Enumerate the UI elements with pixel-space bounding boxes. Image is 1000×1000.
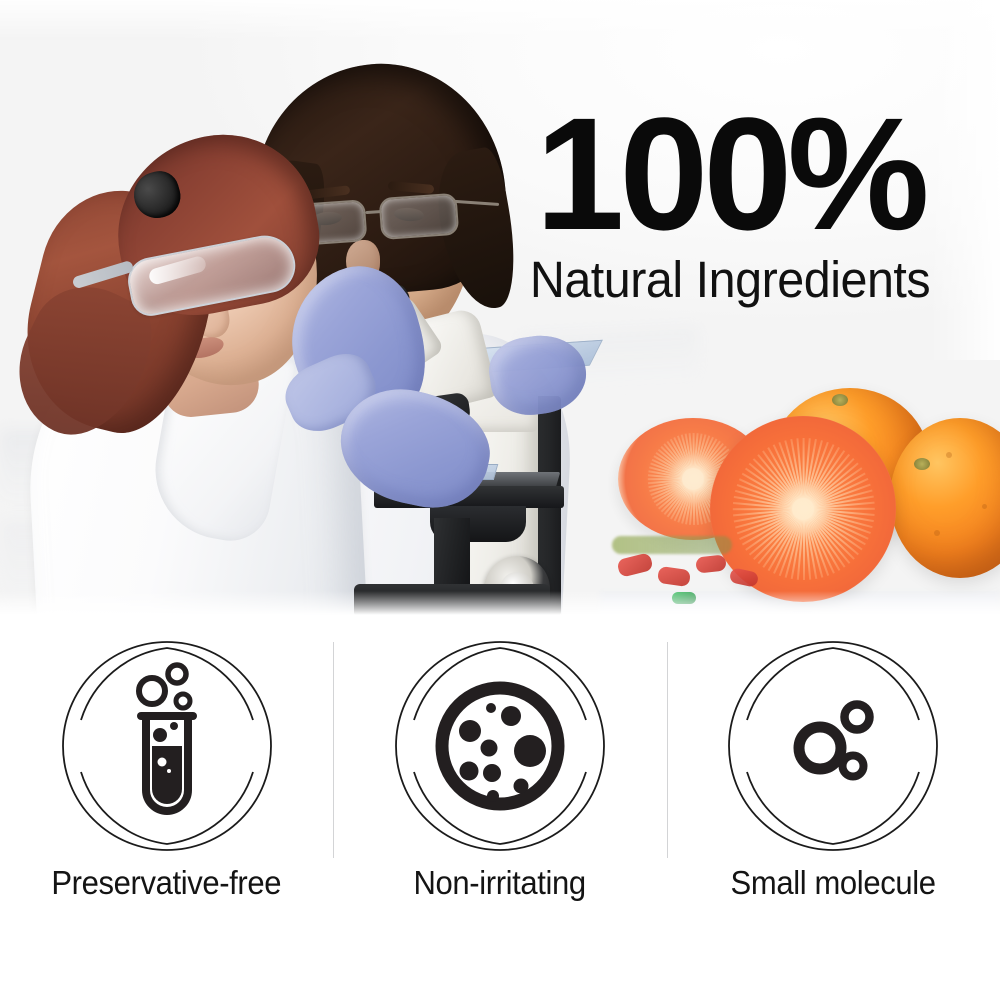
test-tube-bubbles-icon bbox=[59, 638, 275, 854]
headline-percentage: 100% bbox=[505, 100, 955, 247]
red-capsule bbox=[657, 566, 691, 587]
feature-label: Preservative-free bbox=[52, 864, 282, 902]
headline-block: 100% Natural Ingredients bbox=[505, 100, 955, 307]
red-capsule bbox=[695, 554, 727, 573]
orange-stem bbox=[914, 458, 930, 470]
orange-pore bbox=[946, 452, 952, 458]
herb-garnish bbox=[612, 536, 732, 554]
molecules-icon bbox=[725, 638, 941, 854]
red-capsule bbox=[616, 552, 653, 578]
orange-pore bbox=[934, 530, 940, 536]
feature-label: Small molecule bbox=[731, 864, 936, 902]
fruit-arrangement bbox=[600, 370, 1000, 617]
headline-subtitle: Natural Ingredients bbox=[516, 253, 944, 307]
hero-bottom-fade bbox=[0, 591, 1000, 617]
orange-pore bbox=[982, 504, 987, 509]
feature-non-irritating: Non-irritating bbox=[333, 620, 666, 920]
product-infographic: 100% Natural Ingredients bbox=[0, 0, 1000, 1000]
feature-row: Preservative-free bbox=[0, 620, 1000, 920]
orange-stem bbox=[832, 394, 848, 406]
feature-label: Non-irritating bbox=[414, 864, 586, 902]
feature-preservative-free: Preservative-free bbox=[0, 620, 333, 920]
microscope-pillar bbox=[434, 518, 470, 594]
feature-small-molecule: Small molecule bbox=[667, 620, 1000, 920]
petri-dish-cells-icon bbox=[392, 638, 608, 854]
hero-top-fade bbox=[0, 0, 1000, 40]
